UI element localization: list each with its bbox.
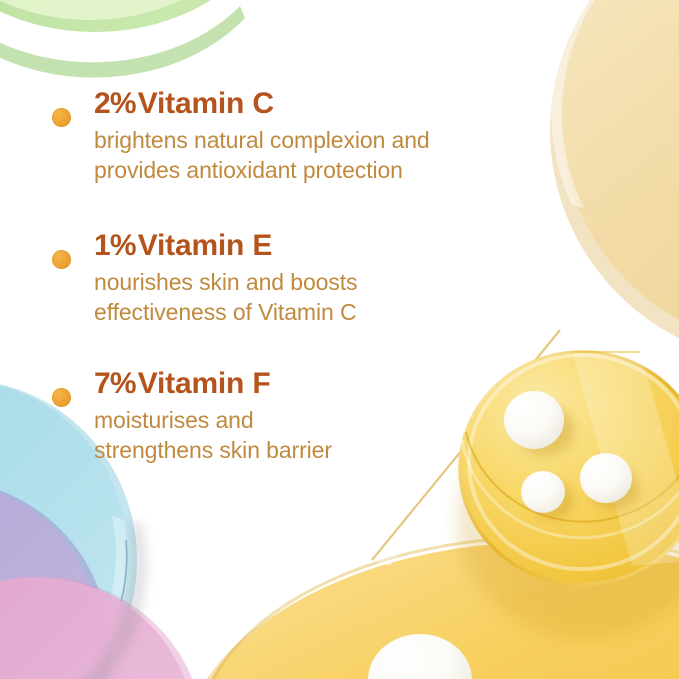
benefit-description: moisturises and strengthens skin barrier — [94, 405, 522, 465]
benefit-item-vitamin-c: 2%Vitamin C brightens natural complexion… — [52, 86, 522, 185]
benefit-heading: 7%Vitamin F — [94, 366, 522, 402]
benefit-percent: 2% — [94, 87, 136, 120]
benefit-name: Vitamin F — [138, 367, 271, 400]
benefit-item-vitamin-f: 7%Vitamin F moisturises and strengthens … — [52, 366, 522, 465]
bullet-dot-icon — [52, 108, 71, 127]
benefit-heading: 1%Vitamin E — [94, 228, 522, 264]
benefit-item-vitamin-e: 1%Vitamin E nourishes skin and boosts ef… — [52, 228, 522, 327]
bullet-dot-icon — [52, 388, 71, 407]
benefit-description: nourishes skin and boosts effectiveness … — [94, 267, 522, 327]
benefit-name: Vitamin E — [138, 229, 272, 262]
benefit-heading: 2%Vitamin C — [94, 86, 522, 122]
benefit-name: Vitamin C — [138, 87, 274, 120]
product-benefits-infographic: 2%Vitamin C brightens natural complexion… — [0, 0, 679, 679]
benefit-percent: 7% — [94, 367, 136, 400]
bullet-dot-icon — [52, 250, 71, 269]
benefits-list: 2%Vitamin C brightens natural complexion… — [0, 0, 679, 679]
benefit-description: brightens natural complexion and provide… — [94, 125, 522, 185]
benefit-percent: 1% — [94, 229, 136, 262]
